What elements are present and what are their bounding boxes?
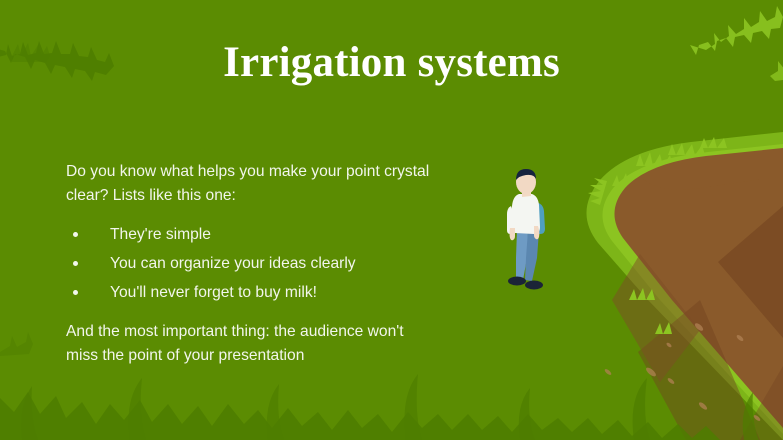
bullet-dot-icon — [73, 290, 78, 295]
dirt-path-illustration — [586, 132, 783, 440]
path-pebbles — [604, 322, 761, 422]
list-item: You can organize your ideas clearly — [66, 252, 436, 276]
list-item-label: You can organize your ideas clearly — [110, 255, 356, 272]
left-shoe — [508, 277, 526, 286]
list-item: They're simple — [66, 223, 436, 247]
intro-paragraph: Do you know what helps you make your poi… — [66, 160, 436, 207]
person-standing-illustration — [498, 168, 564, 292]
bullet-list: They're simple You can organize your ide… — [66, 223, 436, 304]
list-item-label: They're simple — [110, 226, 211, 243]
bullet-dot-icon — [73, 232, 78, 237]
list-item-label: You'll never forget to buy milk! — [110, 284, 317, 301]
slide-body-content: Do you know what helps you make your poi… — [66, 160, 436, 368]
closing-paragraph: And the most important thing: the audien… — [66, 320, 436, 367]
grass-decoration-bottom — [0, 392, 783, 440]
presentation-slide: Irrigation systems Do you know what help… — [0, 0, 783, 440]
slide-title: Irrigation systems — [0, 40, 783, 85]
bullet-dot-icon — [73, 261, 78, 266]
right-shoe — [525, 281, 543, 290]
left-hand — [510, 228, 516, 240]
grass-edge-tufts — [629, 288, 672, 334]
grass-decoration-bottom-blades — [21, 374, 759, 440]
list-item: You'll never forget to buy milk! — [66, 281, 436, 305]
grass-decoration-left-edge — [0, 332, 33, 356]
right-hand — [534, 226, 539, 239]
path-surface — [614, 148, 783, 428]
